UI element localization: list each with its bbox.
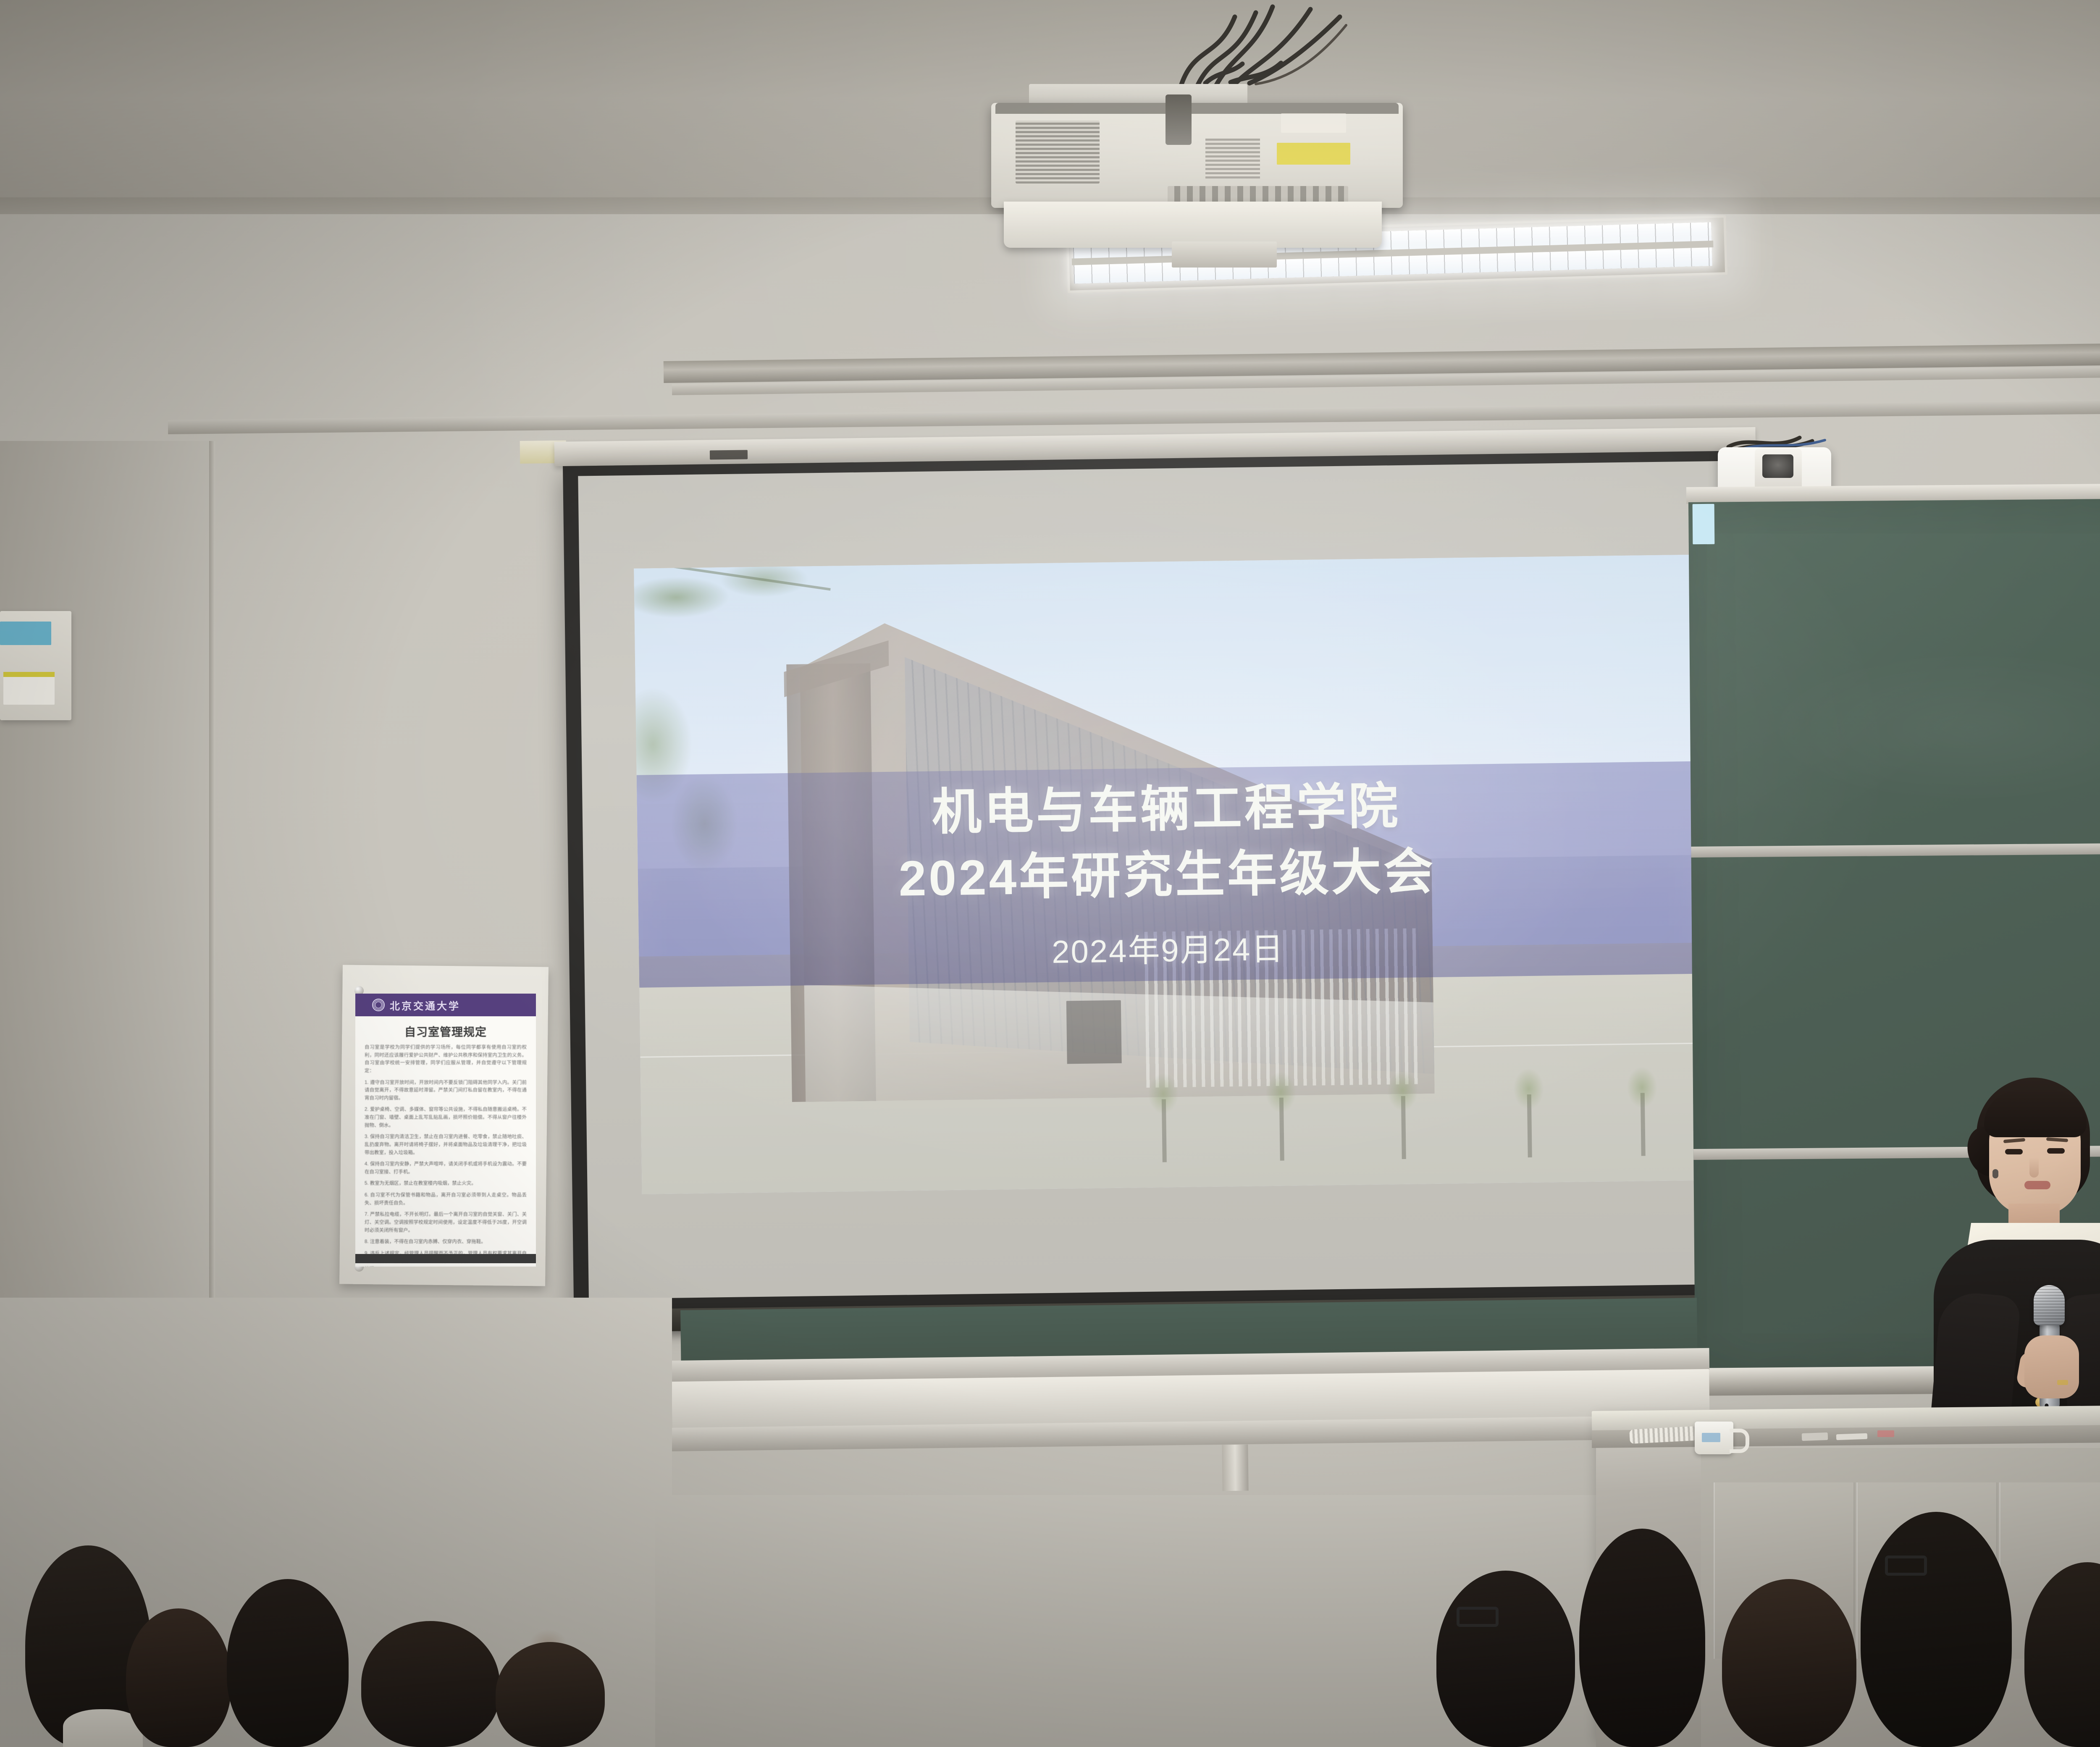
slide-date: 2024年9月24日 — [1051, 923, 1284, 972]
audience-head — [227, 1579, 349, 1747]
audience-head — [2024, 1562, 2100, 1747]
audience-head — [126, 1608, 231, 1747]
projector-lens — [1172, 241, 1277, 268]
projector-port-panel — [1168, 186, 1348, 203]
projector-cables-icon — [1130, 0, 1348, 97]
audience-head — [1722, 1579, 1856, 1747]
poster-paragraph: 5. 教室为无烟区，禁止在教室楼内吸烟，禁止火灾。 — [365, 1180, 527, 1188]
poster-paragraph: 2. 爱护桌椅、空调、多媒体、窗帘等公共设施，不得私自随意搬运桌椅。不准在门窗、… — [365, 1106, 527, 1129]
presenter-hand — [2024, 1335, 2079, 1398]
console-switch[interactable] — [1836, 1433, 1867, 1440]
projector-mount-arm — [1165, 94, 1192, 145]
slide-title-line-1: 机电与车辆工程学院 — [932, 775, 1401, 844]
audience-head — [361, 1621, 500, 1747]
projector-vent-grille — [1016, 121, 1100, 184]
projector-spec-label — [1281, 113, 1346, 133]
projector-top-strip — [995, 103, 1399, 114]
screen-brand-plate — [710, 450, 748, 459]
poster-header: 北京交通大学 — [355, 994, 536, 1016]
poster-paragraph: 自习室是学校为同学们提供的学习场所，每位同学都享有使用自习室的权利，同时还应该履… — [365, 1044, 527, 1075]
poster-rules-text: 自习室是学校为同学们提供的学习场所，每位同学都享有使用自习室的权利，同时还应该履… — [355, 1039, 536, 1267]
console-indicator — [1877, 1430, 1894, 1437]
audience-head — [1861, 1512, 2012, 1747]
audience-head — [1579, 1529, 1705, 1747]
console-switch[interactable] — [1802, 1432, 1828, 1441]
projector-warning-label — [1277, 143, 1350, 165]
audience — [0, 1453, 2100, 1747]
poster-university-name: 北京交通大学 — [390, 998, 460, 1013]
mug-handle — [1730, 1429, 1749, 1453]
poster-paragraph: 3. 保持自习室内清洁卫生，禁止在自习室内进餐、吃零食，禁止随地吐痰、乱扔废弃物… — [365, 1133, 527, 1157]
presentation-slide: 机电与车辆工程学院 2024年研究生年级大会 2024年9月24日 — [634, 555, 1700, 1194]
presenter-earring — [1992, 1169, 1998, 1178]
ceiling-projector — [991, 25, 1411, 223]
projector-lens-housing — [1004, 202, 1382, 248]
presenter-hair-fringe — [1984, 1090, 2087, 1137]
poster-paragraph: 1. 遵守自习室开放时间，开放时间内不要反锁门阻碍其他同学入内。关门前请自觉离开… — [365, 1079, 527, 1102]
poster-paragraph: 6. 自习室不代为保管书籍和物品，离开自习室必须带到人走桌空。物品丢失、损坏责任… — [365, 1191, 527, 1207]
slide-text-block: 机电与车辆工程学院 2024年研究生年级大会 2024年9月24日 — [634, 555, 1700, 1194]
poster-title: 自习室管理规定 — [355, 1023, 536, 1039]
audience-glasses-icon — [1457, 1607, 1499, 1627]
audience-head — [496, 1642, 605, 1747]
poster-paragraph: 8. 注意着装，不得在自习室内赤膊、仅穿内衣、穿拖鞋。 — [365, 1238, 527, 1246]
microphone-grille-icon — [2034, 1285, 2065, 1325]
mug-logo — [1702, 1433, 1720, 1442]
instruction-sticker-header — [3, 672, 55, 677]
chalkboard-asset-tag — [1693, 504, 1715, 544]
camera-sensor-icon — [1762, 454, 1793, 478]
poster-footer-bar — [355, 1254, 536, 1263]
poster-paragraph: 7. 严禁私拉电缆，不开长明灯。最后一个离开自习室的自觉关窗、关门、关灯、关空调… — [365, 1211, 527, 1234]
presenter-nose — [2029, 1157, 2039, 1178]
poster-paragraph: 4. 保持自习室内安静，严禁大声喧哗，请关闭手机或将手机设为震动。不要在自习室接… — [365, 1160, 527, 1176]
projection-screen[interactable]: 机电与车辆工程学院 2024年研究生年级大会 2024年9月24日 — [563, 451, 1758, 1319]
presenter-ring — [2057, 1380, 2068, 1385]
slide-title-line-2: 2024年研究生年级大会 — [898, 841, 1436, 910]
study-room-rules-poster: 北京交通大学 自习室管理规定 自习室是学校为同学们提供的学习场所，每位同学都享有… — [355, 994, 536, 1267]
university-logo-icon — [372, 999, 385, 1011]
presenter-eye — [2005, 1149, 2023, 1154]
audience-glasses-icon — [1885, 1556, 1927, 1576]
chalkboard-horizontal-divider — [1691, 839, 2100, 858]
audience-head — [1436, 1571, 1575, 1747]
projection-screen-surface: 机电与车辆工程学院 2024年研究生年级大会 2024年9月24日 — [578, 461, 1743, 1299]
classroom-scene: 北京交通大学 自习室管理规定 自习室是学校为同学们提供的学习场所，每位同学都享有… — [0, 0, 2100, 1747]
projector-vent-grille — [1205, 139, 1260, 178]
presenter-lips — [2024, 1181, 2050, 1189]
presenter-eye — [2047, 1148, 2065, 1154]
control-box-asset-label — [0, 622, 51, 645]
projector-body — [991, 103, 1403, 208]
